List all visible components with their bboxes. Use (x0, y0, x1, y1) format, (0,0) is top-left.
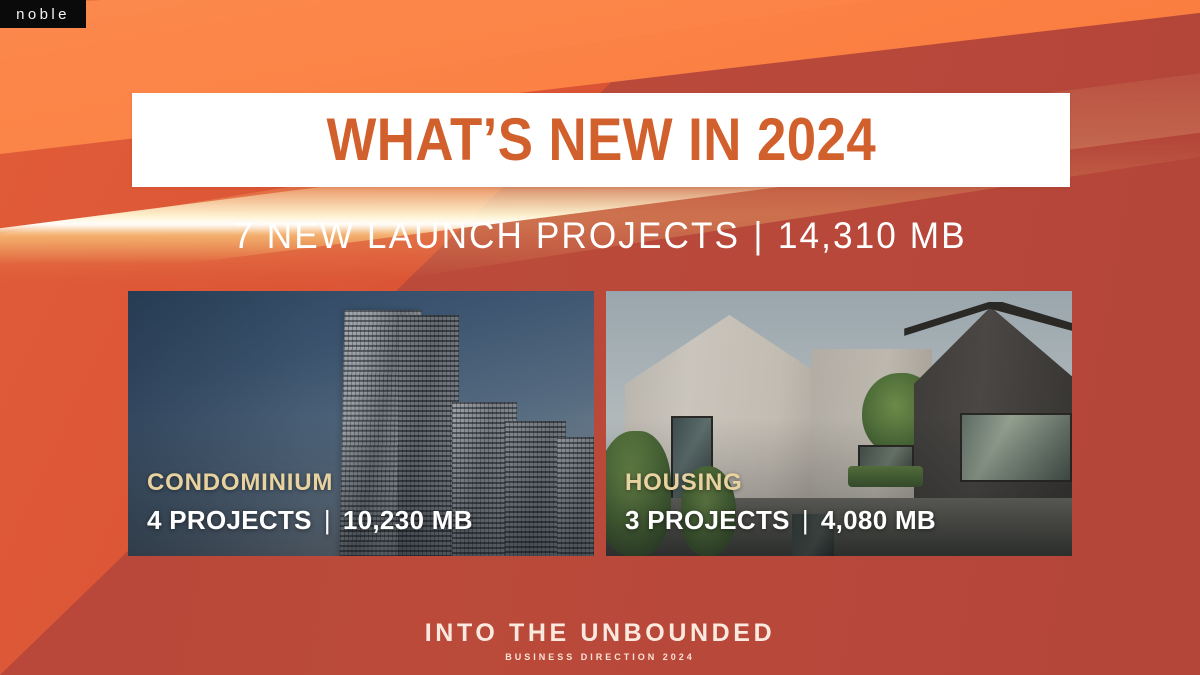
card-category-label: HOUSING (625, 468, 936, 498)
noble-logo-text: noble (16, 7, 70, 22)
card-value: 4,080 MB (821, 505, 936, 535)
window-right-large (960, 413, 1072, 482)
card-project-count: 3 PROJECTS (625, 505, 790, 535)
footer-tagline: INTO THE UNBOUNDED (0, 620, 1200, 648)
card-label-group: CONDOMINIUM 4 PROJECTS|10,230 MB (147, 468, 473, 536)
card-label-group: HOUSING 3 PROJECTS|4,080 MB (625, 468, 936, 536)
card-category-label: CONDOMINIUM (147, 468, 473, 498)
card-separator: | (790, 505, 821, 535)
card-stats: 3 PROJECTS|4,080 MB (625, 505, 936, 536)
presentation-slide: noble WHAT’S NEW IN 2024 7 NEW LAUNCH PR… (0, 0, 1200, 675)
card-value: 10,230 MB (343, 505, 473, 535)
title-banner: WHAT’S NEW IN 2024 (132, 93, 1070, 187)
summary-projects: 7 NEW LAUNCH PROJECTS (233, 215, 740, 256)
card-separator: | (312, 505, 343, 535)
summary-line: 7 NEW LAUNCH PROJECTS|14,310 MB (30, 216, 1170, 257)
footer-subline: BUSINESS DIRECTION 2024 (0, 653, 1200, 663)
card-condominium[interactable]: CONDOMINIUM 4 PROJECTS|10,230 MB (128, 291, 594, 556)
page-title: WHAT’S NEW IN 2024 (326, 110, 876, 170)
card-housing[interactable]: HOUSING 3 PROJECTS|4,080 MB (606, 291, 1072, 556)
summary-separator: | (740, 215, 778, 256)
noble-logo: noble (0, 0, 86, 28)
slide-footer: INTO THE UNBOUNDED BUSINESS DIRECTION 20… (0, 620, 1200, 662)
card-project-count: 4 PROJECTS (147, 505, 312, 535)
card-stats: 4 PROJECTS|10,230 MB (147, 505, 473, 536)
category-cards: CONDOMINIUM 4 PROJECTS|10,230 MB (128, 291, 1072, 556)
summary-value: 14,310 MB (778, 215, 967, 256)
